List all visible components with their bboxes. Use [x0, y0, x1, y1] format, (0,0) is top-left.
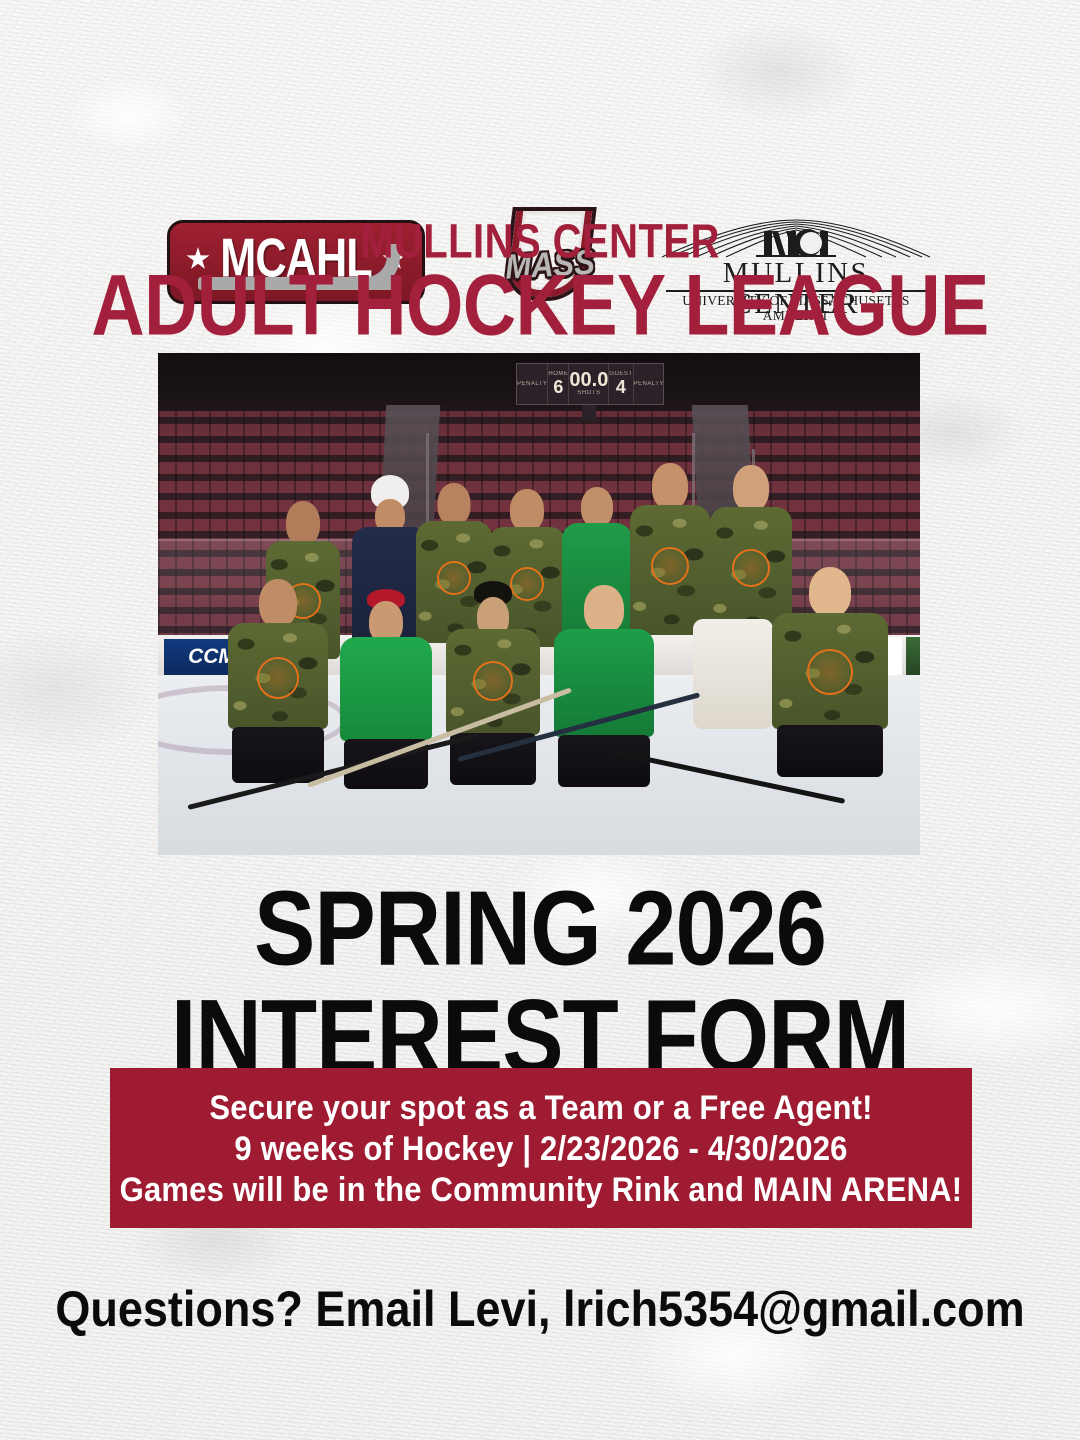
- scoreboard-clock: 00.0 SHOTS: [569, 364, 609, 404]
- team-photo: PENALTY HOME 6 00.0 SHOTS GUEST 4 PENALT…: [158, 353, 920, 855]
- player-head: [510, 489, 544, 531]
- goalie-blocker-pad: [693, 619, 772, 729]
- player-head: [652, 463, 688, 509]
- flyer-canvas: MCAHL MASS: [0, 0, 1080, 1440]
- player-head: [733, 465, 769, 511]
- banner-line-1: Secure your spot as a Team or a Free Age…: [209, 1084, 872, 1129]
- player-head: [809, 567, 851, 617]
- scoreboard-penalty-guest: PENALTY: [634, 364, 664, 404]
- page-title: ADULT HOCKEY LEAGUE: [16, 260, 1064, 351]
- player-jersey: [340, 637, 432, 741]
- player-front-5: [772, 567, 888, 767]
- team-crest: [257, 657, 299, 699]
- banner-line-2: 9 weeks of Hockey | 2/23/2026 - 4/30/202…: [234, 1125, 847, 1170]
- player-head: [581, 487, 613, 527]
- player-head: [584, 585, 624, 633]
- player-legs: [558, 735, 650, 787]
- team-crest: [732, 549, 770, 587]
- player-head: [438, 483, 471, 525]
- scoreboard-home: HOME 6: [548, 364, 569, 404]
- team-crest: [807, 649, 853, 695]
- player-head: [259, 579, 297, 627]
- banner-line-3: Games will be in the Community Rink and …: [120, 1166, 963, 1211]
- scoreboard: PENALTY HOME 6 00.0 SHOTS GUEST 4 PENALT…: [516, 363, 664, 405]
- scoreboard-guest: GUEST 4: [609, 364, 633, 404]
- boards-ad-photo: [906, 637, 920, 677]
- scoreboard-support: [582, 405, 596, 421]
- big-title: SPRING 2026 INTEREST FORM: [0, 875, 1080, 1091]
- info-banner: Secure your spot as a Team or a Free Age…: [110, 1068, 972, 1228]
- player-head: [286, 501, 320, 545]
- player-legs: [777, 725, 884, 777]
- team-crest: [473, 661, 513, 701]
- scoreboard-penalty: PENALTY: [517, 364, 548, 404]
- player-front-1: [228, 579, 328, 765]
- player-front-4: [554, 585, 654, 767]
- contact-footer: Questions? Email Levi, lrich5354@gmail.c…: [0, 1280, 1080, 1338]
- team-crest: [651, 547, 689, 585]
- logo-row: MCAHL MASS: [0, 105, 1080, 210]
- big-title-line1: SPRING 2026: [254, 870, 826, 987]
